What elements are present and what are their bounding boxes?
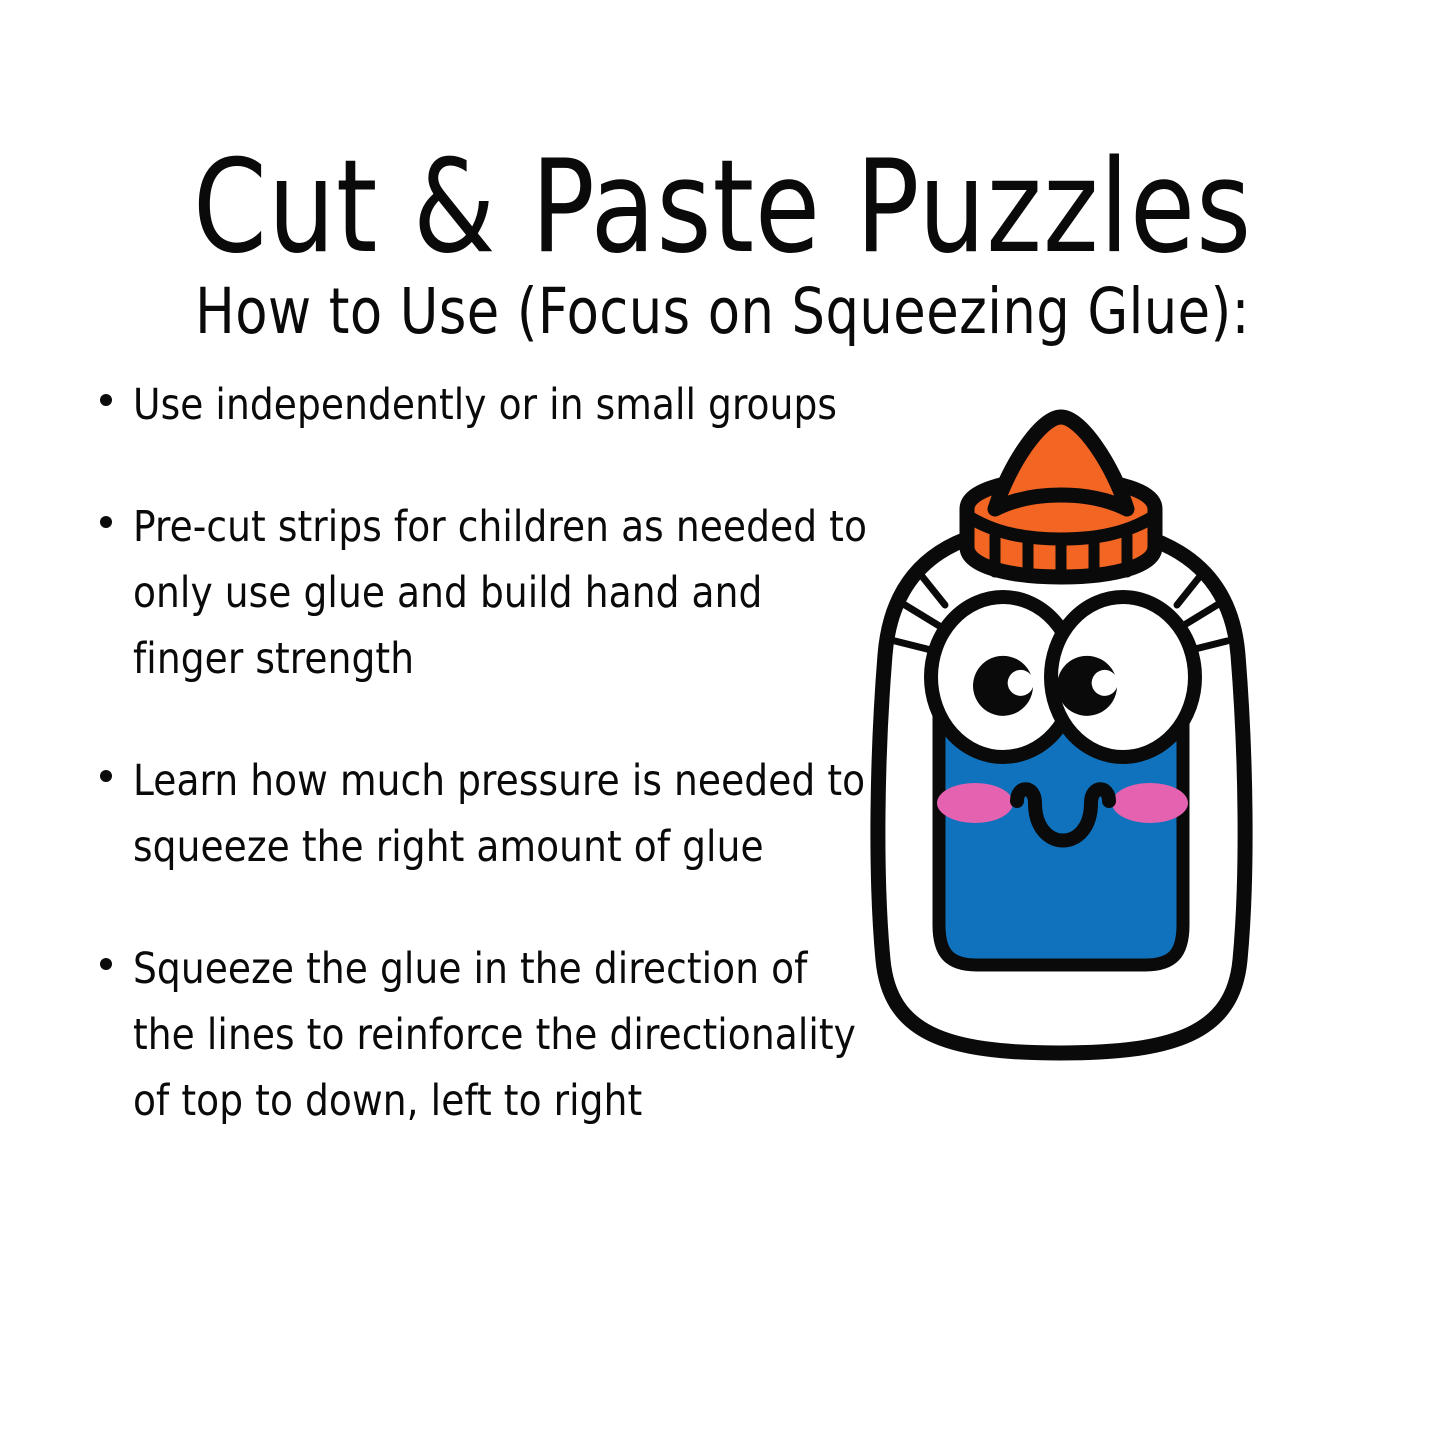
cone-tip: [995, 417, 1127, 509]
bullet-point-icon: [100, 748, 133, 782]
list-item: Pre-cut strips for children as needed to…: [100, 494, 890, 692]
poster-page: Cut & Paste Puzzles How to Use (Focus on…: [0, 0, 1445, 1445]
list-item-label: Learn how much pressure is needed to squ…: [133, 748, 867, 880]
list-item-label: Pre-cut strips for children as needed to…: [133, 494, 867, 692]
page-title: Cut & Paste Puzzles: [58, 144, 1387, 272]
list-item-label: Squeeze the glue in the direction of the…: [133, 936, 867, 1134]
instructions-list: Use independently or in small groups Pre…: [100, 372, 890, 1134]
page-subtitle: How to Use (Focus on Squeezing Glue):: [51, 280, 1395, 343]
bullet-point-icon: [100, 372, 133, 406]
list-item: Learn how much pressure is needed to squ…: [100, 748, 890, 880]
right-eye: [1051, 597, 1195, 757]
right-cheek: [1112, 783, 1188, 823]
list-item-label: Use independently or in small groups: [133, 372, 867, 438]
bullet-point-icon: [100, 936, 133, 970]
list-item: Use independently or in small groups: [100, 372, 890, 438]
glue-bottle-icon: [845, 405, 1285, 1075]
left-cheek: [937, 783, 1013, 823]
list-item: Squeeze the glue in the direction of the…: [100, 936, 890, 1134]
glue-bottle-illustration: [845, 405, 1285, 1075]
bullet-point-icon: [100, 494, 133, 528]
